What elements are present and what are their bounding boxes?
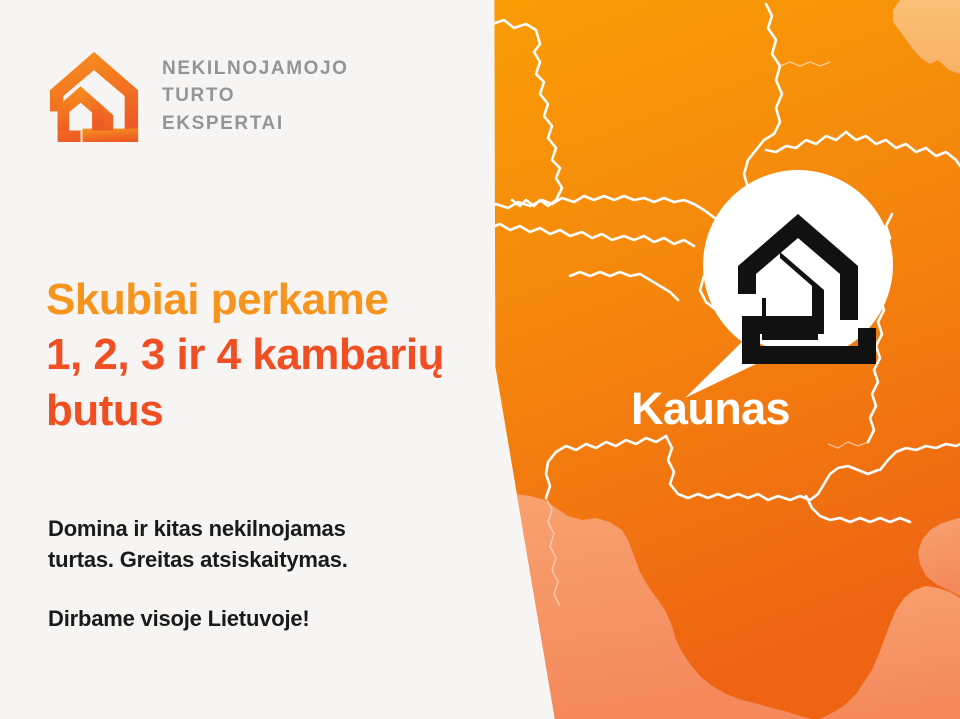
brand-name: NEKILNOJAMOJO TURTO EKSPERTAI bbox=[162, 55, 349, 138]
body-paragraph-1-line-1: Domina ir kitas nekilnojamas bbox=[48, 513, 348, 544]
brand-logo[interactable]: NEKILNOJAMOJO TURTO EKSPERTAI bbox=[48, 48, 349, 144]
city-label-kaunas: Kaunas bbox=[631, 386, 790, 431]
house-logo-icon bbox=[48, 48, 140, 144]
body-paragraph-1: Domina ir kitas nekilnojamas turtas. Gre… bbox=[48, 513, 348, 575]
headline-line-3: butus bbox=[46, 383, 444, 438]
brand-name-line3: EKSPERTAI bbox=[162, 110, 349, 138]
left-content-panel: NEKILNOJAMOJO TURTO EKSPERTAI Skubiai pe… bbox=[0, 0, 540, 719]
headline-line-2: 1, 2, 3 ir 4 kambarių bbox=[46, 327, 444, 382]
map-location-bubble[interactable] bbox=[703, 170, 893, 360]
brand-name-line2: TURTO bbox=[162, 82, 349, 110]
body-paragraph-2: Dirbame visoje Lietuvoje! bbox=[48, 603, 310, 634]
brand-name-line1: NEKILNOJAMOJO bbox=[162, 55, 349, 83]
bubble-shape bbox=[663, 170, 913, 400]
body-paragraph-1-line-2: turtas. Greitas atsiskaitymas. bbox=[48, 544, 348, 575]
promo-banner: Kaunas bbox=[0, 0, 960, 719]
page-title: Skubiai perkame 1, 2, 3 ir 4 kambarių bu… bbox=[46, 272, 444, 438]
headline-line-1: Skubiai perkame bbox=[46, 272, 444, 327]
